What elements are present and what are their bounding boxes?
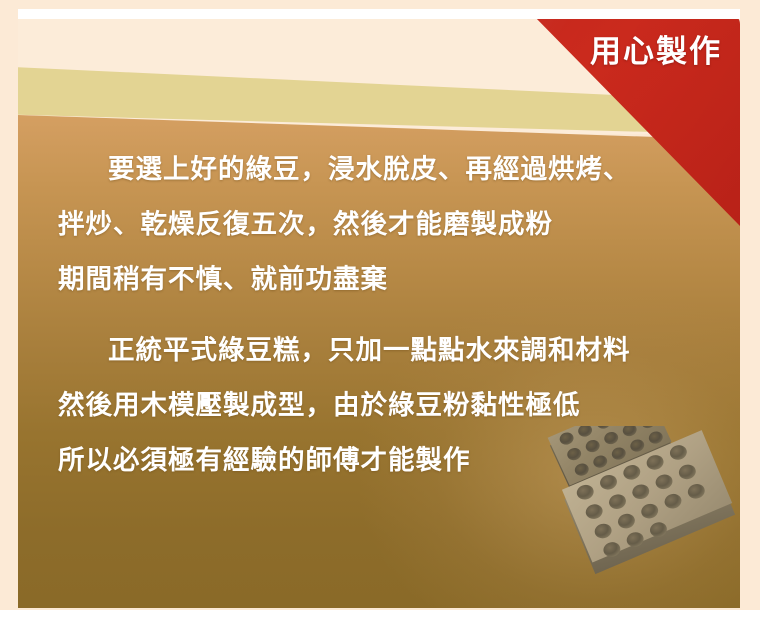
paragraph-2-line-1: 正統平式綠豆糕，只加一點點水來調和材料 [58,323,740,378]
body-copy: 要選上好的綠豆，浸水脫皮、再經過烘烤、 拌炒、乾燥反復五次，然後才能磨製成粉 期… [58,142,740,488]
paragraph-2-line-2: 然後用木模壓製成型，由於綠豆粉黏性極低 [58,378,740,433]
paragraph-1: 要選上好的綠豆，浸水脫皮、再經過烘烤、 拌炒、乾燥反復五次，然後才能磨製成粉 期… [58,142,740,307]
bottom-white-strip [0,610,760,620]
paragraph-2: 正統平式綠豆糕，只加一點點水來調和材料 然後用木模壓製成型，由於綠豆粉黏性極低 … [58,323,740,488]
paragraph-1-line-3: 期間稍有不慎、就前功盡棄 [58,252,740,307]
content-panel: 用心製作 要選上好的綠豆，浸水脫皮、再經過烘烤、 拌炒、乾燥反復五次，然後才能磨… [18,14,740,608]
page-root: 用心製作 要選上好的綠豆，浸水脫皮、再經過烘烤、 拌炒、乾燥反復五次，然後才能磨… [0,0,760,620]
paragraph-2-line-3: 所以必須極有經驗的師傅才能製作 [58,433,740,488]
paragraph-1-line-1: 要選上好的綠豆，浸水脫皮、再經過烘烤、 [58,142,740,197]
paragraph-1-line-2: 拌炒、乾燥反復五次，然後才能磨製成粉 [58,197,740,252]
top-white-rule [18,9,740,19]
corner-banner-label: 用心製作 [590,36,722,67]
